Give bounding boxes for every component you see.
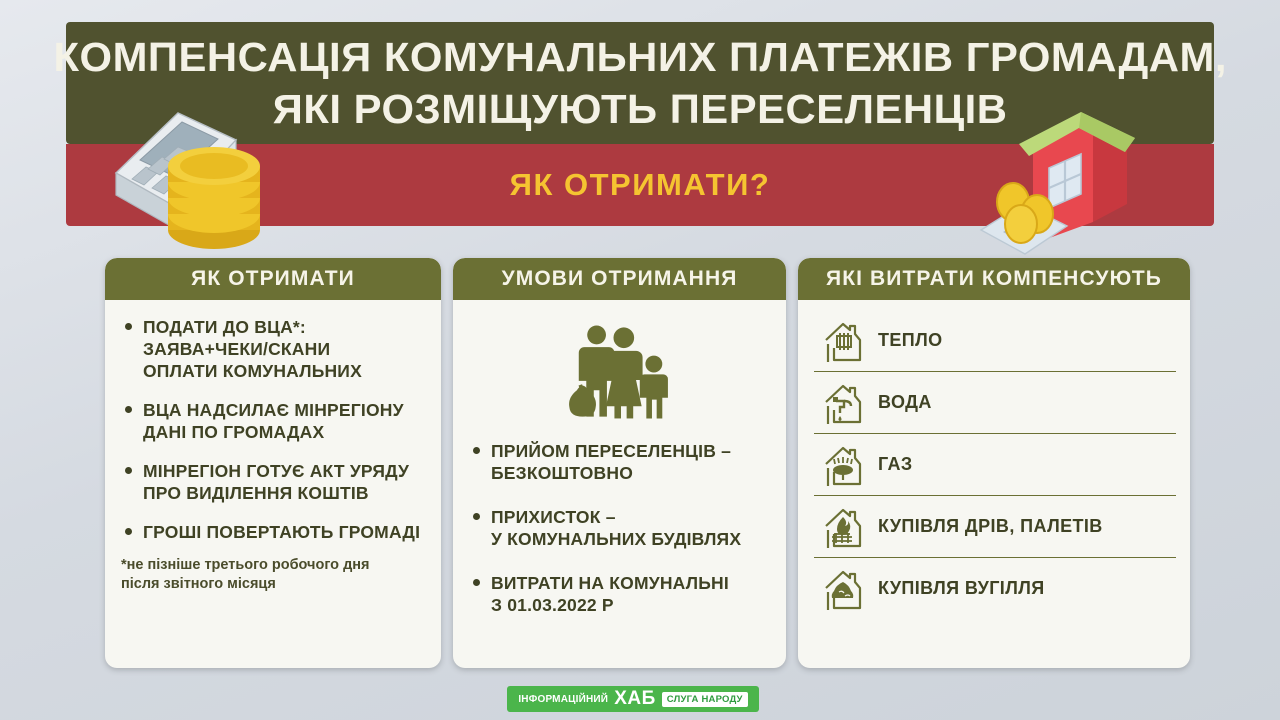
- list-item-text: ПРИХИСТОК – У КОМУНАЛЬНИХ БУДІВЛЯХ: [491, 507, 741, 549]
- page-title-line-1: КОМПЕНСАЦІЯ КОМУНАЛЬНИХ ПЛАТЕЖІВ ГРОМАДА…: [53, 31, 1226, 83]
- card-covered-expenses: ЯКІ ВИТРАТИ КОМПЕНСУЮТЬ: [798, 258, 1190, 668]
- list-item-text: ПОДАТИ ДО ВЦА*: ЗАЯВА+ЧЕКИ/СКАНИ ОПЛАТИ …: [143, 317, 362, 381]
- house-coal-icon: [822, 566, 864, 612]
- expense-row-water: ВОДА: [814, 372, 1176, 434]
- list-item: ВИТРАТИ НА КОМУНАЛЬНІ З 01.03.2022 Р: [469, 572, 772, 616]
- list-item: ПРИХИСТОК – У КОМУНАЛЬНИХ БУДІВЛЯХ: [469, 506, 772, 550]
- house-gas-burner-icon: [822, 442, 864, 488]
- house-faucet-icon: [822, 380, 864, 426]
- house-phone-coins-illustration: [975, 82, 1150, 262]
- house-radiator-icon: [822, 318, 864, 364]
- expense-row-firewood: КУПІВЛЯ ДРІВ, ПАЛЕТІВ: [814, 496, 1176, 558]
- expense-label: ТЕПЛО: [878, 330, 943, 351]
- expense-label: ВОДА: [878, 392, 932, 413]
- list-item: ПРИЙОМ ПЕРЕСЕЛЕНЦІВ – БЕЗКОШТОВНО: [469, 440, 772, 484]
- steps-list: ПОДАТИ ДО ВЦА*: ЗАЯВА+ЧЕКИ/СКАНИ ОПЛАТИ …: [121, 316, 427, 543]
- expense-row-heat: ТЕПЛО: [814, 310, 1176, 372]
- expense-row-gas: ГАЗ: [814, 434, 1176, 496]
- card-header-label: УМОВИ ОТРИМАННЯ: [502, 267, 738, 291]
- expense-label: ГАЗ: [878, 454, 913, 475]
- card-body: ПОДАТИ ДО ВЦА*: ЗАЯВА+ЧЕКИ/СКАНИ ОПЛАТИ …: [105, 300, 441, 668]
- footnote: *не пізніше третього робочого дня після …: [121, 556, 427, 594]
- card-header: УМОВИ ОТРИМАННЯ: [453, 258, 786, 300]
- expense-row-coal: КУПІВЛЯ ВУГІЛЛЯ: [814, 558, 1176, 619]
- subtitle-text: ЯК ОТРИМАТИ?: [510, 167, 771, 203]
- page-title-line-2: ЯКІ РОЗМІЩУЮТЬ ПЕРЕСЕЛЕНЦІВ: [273, 83, 1008, 135]
- expense-label: КУПІВЛЯ ДРІВ, ПАЛЕТІВ: [878, 516, 1103, 537]
- card-header-label: ЯК ОТРИМАТИ: [191, 267, 355, 291]
- footer-hub-label: ХАБ: [614, 688, 656, 710]
- list-item: МІНРЕГІОН ГОТУЄ АКТ УРЯДУ ПРО ВИДІЛЕННЯ …: [121, 460, 427, 504]
- list-item-text: ВИТРАТИ НА КОМУНАЛЬНІ З 01.03.2022 Р: [491, 573, 729, 615]
- calculator-coins-illustration: [96, 78, 286, 258]
- list-item: ГРОШІ ПОВЕРТАЮТЬ ГРОМАДІ: [121, 521, 427, 543]
- list-item: ВЦА НАДСИЛАЄ МІНРЕГІОНУ ДАНІ ПО ГРОМАДАХ: [121, 399, 427, 443]
- family-with-bag-icon: [469, 322, 772, 422]
- card-header: ЯК ОТРИМАТИ: [105, 258, 441, 300]
- list-item: ПОДАТИ ДО ВЦА*: ЗАЯВА+ЧЕКИ/СКАНИ ОПЛАТИ …: [121, 316, 427, 382]
- expense-list: ТЕПЛО ВОДА: [814, 310, 1176, 619]
- cards-container: ЯК ОТРИМАТИ ПОДАТИ ДО ВЦА*: ЗАЯВА+ЧЕКИ/С…: [0, 258, 1280, 678]
- card-header-label: ЯКІ ВИТРАТИ КОМПЕНСУЮТЬ: [826, 267, 1162, 291]
- card-header: ЯКІ ВИТРАТИ КОМПЕНСУЮТЬ: [798, 258, 1190, 300]
- expense-label: КУПІВЛЯ ВУГІЛЛЯ: [878, 578, 1045, 599]
- footer-party-label: СЛУГА НАРОДУ: [662, 692, 748, 707]
- list-item-text: ГРОШІ ПОВЕРТАЮТЬ ГРОМАДІ: [143, 522, 420, 542]
- card-conditions: УМОВИ ОТРИМАННЯ: [453, 258, 786, 668]
- conditions-list: ПРИЙОМ ПЕРЕСЕЛЕНЦІВ – БЕЗКОШТОВНО ПРИХИС…: [469, 440, 772, 616]
- footer-info-label: ІНФОРМАЦІЙНИЙ: [518, 694, 608, 705]
- card-body: ПРИЙОМ ПЕРЕСЕЛЕНЦІВ – БЕЗКОШТОВНО ПРИХИС…: [453, 300, 786, 668]
- house-firewood-icon: [822, 504, 864, 550]
- card-body: ТЕПЛО ВОДА: [798, 300, 1190, 668]
- list-item-text: ПРИЙОМ ПЕРЕСЕЛЕНЦІВ – БЕЗКОШТОВНО: [491, 441, 731, 483]
- footer-logo[interactable]: ІНФОРМАЦІЙНИЙ ХАБ СЛУГА НАРОДУ: [507, 686, 759, 712]
- card-how-to-receive: ЯК ОТРИМАТИ ПОДАТИ ДО ВЦА*: ЗАЯВА+ЧЕКИ/С…: [105, 258, 441, 668]
- list-item-text: ВЦА НАДСИЛАЄ МІНРЕГІОНУ ДАНІ ПО ГРОМАДАХ: [143, 400, 404, 442]
- list-item-text: МІНРЕГІОН ГОТУЄ АКТ УРЯДУ ПРО ВИДІЛЕННЯ …: [143, 461, 409, 503]
